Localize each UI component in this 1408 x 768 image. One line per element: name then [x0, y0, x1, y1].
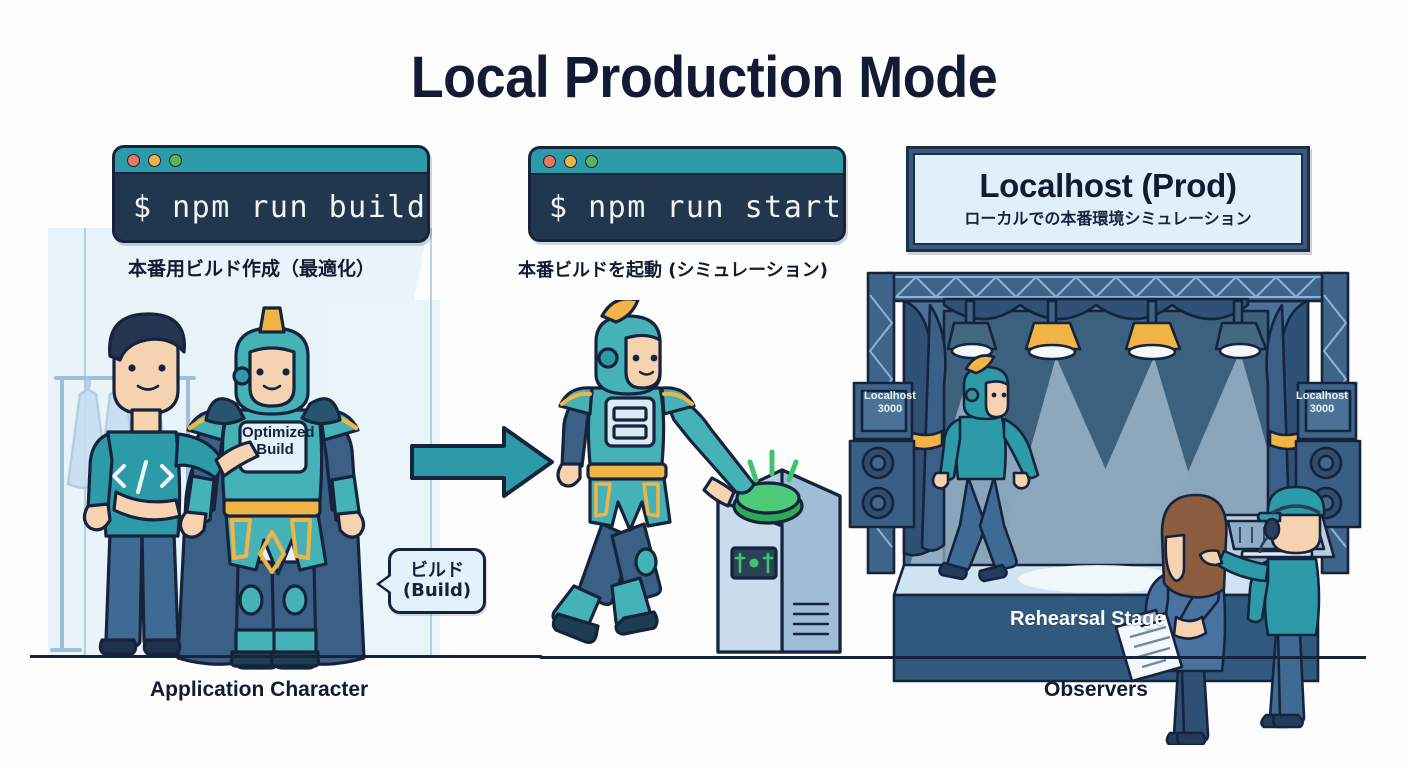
- flow-arrow: [408, 422, 558, 502]
- scene-rehearsal-stage: [848, 265, 1368, 745]
- terminal-window-build: $ npm run build: [112, 145, 430, 243]
- speaker-label-left: Localhost 3000: [860, 390, 920, 415]
- terminal-body: $ npm run build: [115, 174, 427, 240]
- yellow-dot-icon[interactable]: [564, 155, 577, 168]
- terminal-body: $ npm run start: [531, 175, 843, 239]
- chest-plate-label: Optimized Build: [242, 425, 308, 458]
- stage-label: Rehearsal Stage: [1010, 608, 1166, 631]
- terminal-titlebar: [115, 148, 427, 174]
- illustration-canvas: Local Production Mode $ npm run build 本番…: [0, 0, 1408, 768]
- green-dot-icon[interactable]: [585, 155, 598, 168]
- banner-inner: Localhost (Prod) ローカルでの本番環境シミュレーション: [913, 153, 1303, 245]
- ground-line-right: [540, 656, 1366, 659]
- banner-title: Localhost (Prod): [979, 169, 1236, 204]
- arrow-right-icon: [412, 428, 552, 496]
- terminal-command-build: $ npm run build: [133, 190, 426, 225]
- armored-character-standing: [178, 308, 364, 668]
- build-callout: ビルド (Build): [388, 548, 486, 614]
- terminal-window-start: $ npm run start: [528, 146, 846, 242]
- ground-line-left: [30, 655, 542, 658]
- caption-build: 本番用ビルド作成（最適化）: [128, 254, 375, 281]
- caption-start: 本番ビルドを起動 (シミュレーション): [518, 256, 828, 282]
- red-dot-icon[interactable]: [543, 155, 556, 168]
- terminal-command-start: $ npm run start: [549, 190, 842, 225]
- bottom-caption-application-character: Application Character: [150, 678, 368, 702]
- terminal-titlebar: [531, 149, 843, 175]
- banner-subtitle: ローカルでの本番環境シミュレーション: [964, 205, 1251, 229]
- button-press-sparks: [750, 452, 796, 480]
- callout-line-1: ビルド: [410, 561, 464, 581]
- bottom-caption-observers: Observers: [1044, 678, 1148, 702]
- yellow-dot-icon[interactable]: [148, 154, 161, 167]
- scene-start-console: [540, 300, 870, 660]
- callout-line-2: (Build): [403, 581, 471, 601]
- localhost-prod-banner: Localhost (Prod) ローカルでの本番環境シミュレーション: [906, 146, 1310, 252]
- scene-application-character: [40, 300, 460, 680]
- red-dot-icon[interactable]: [127, 154, 140, 167]
- green-dot-icon[interactable]: [169, 154, 182, 167]
- speaker-label-right: Localhost 3000: [1294, 390, 1350, 415]
- page-title: Local Production Mode: [49, 44, 1358, 111]
- callout-tail-icon: [376, 573, 391, 595]
